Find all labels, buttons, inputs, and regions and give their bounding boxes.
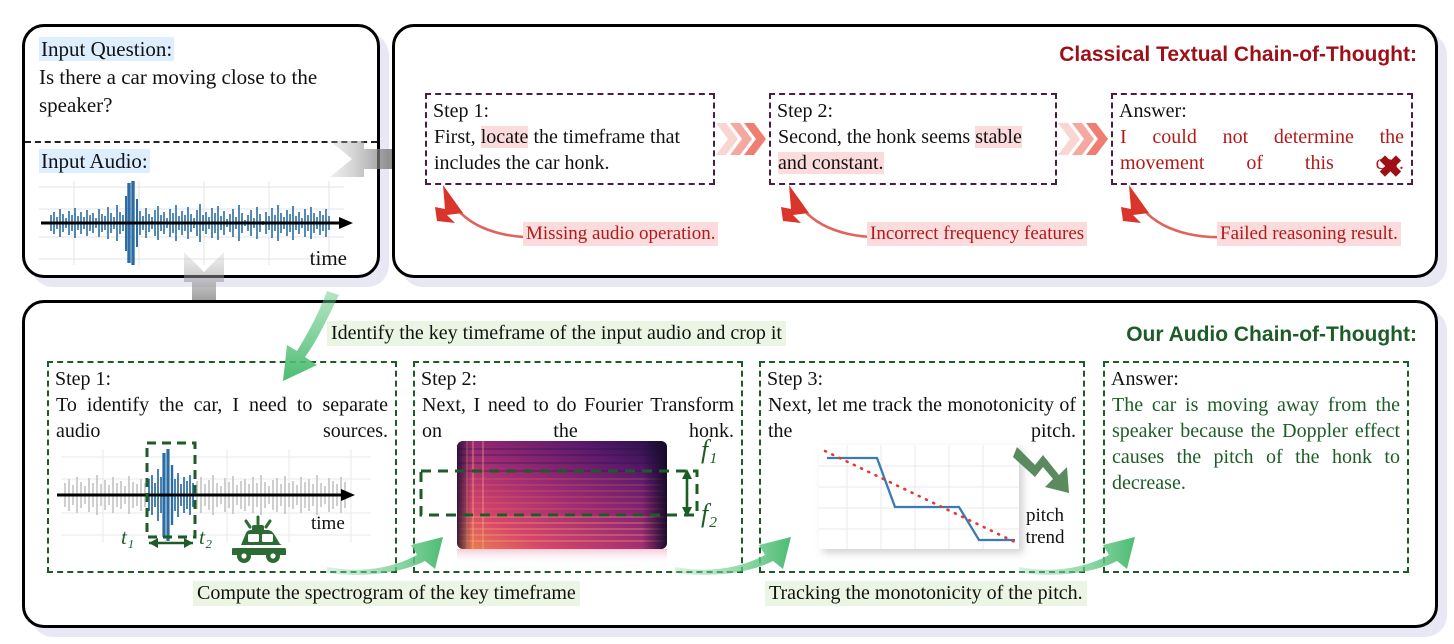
green-arrow-step2-to-step3-icon bbox=[673, 521, 793, 579]
car-icon bbox=[227, 515, 289, 565]
classical-step-2-title: Step 2: bbox=[777, 99, 1055, 123]
classical-step-1-body-highlight: locate bbox=[481, 126, 529, 148]
classical-step-1-body: First, locate the timeframe that include… bbox=[434, 124, 706, 176]
classical-answer-box: Answer: I could not determine the moveme… bbox=[1111, 93, 1413, 185]
pitch-trend-arrow-icon bbox=[1013, 443, 1075, 499]
annotation-3: Failed reasoning result. bbox=[1217, 222, 1401, 246]
classical-step-2-body: Second, the honk seems stable and consta… bbox=[778, 124, 1048, 176]
audio-step-2-title: Step 2: bbox=[421, 367, 741, 391]
spectrogram-figure: f₁ f₂ bbox=[457, 441, 697, 559]
banner-tracking-monotonicity: Tracking the monotonicity of the pitch. bbox=[765, 581, 1087, 606]
green-arrow-step1-to-step2-icon bbox=[325, 521, 445, 579]
audio-answer-body: The car is moving away from the speaker … bbox=[1112, 392, 1400, 496]
f1-label: f₁ bbox=[701, 435, 717, 465]
audio-step-2-body: Next, I need to do Fourier Transform on … bbox=[422, 392, 734, 444]
input-panel: Input Question: Is there a car moving cl… bbox=[22, 24, 380, 278]
time-axis-label: time bbox=[310, 246, 347, 271]
t1-label: t₁ bbox=[121, 525, 134, 550]
chevron-group-2-icon bbox=[1057, 121, 1111, 157]
banner-identify-timeframe: Identify the key timeframe of the input … bbox=[327, 321, 786, 346]
classical-step-2-body-pre: Second, the honk seems bbox=[778, 126, 975, 148]
wrong-answer-cross-icon: ✖ bbox=[1378, 150, 1403, 185]
input-question-text: Is there a car moving close to the speak… bbox=[39, 63, 357, 119]
classical-answer-body: I could not determine the movement of th… bbox=[1120, 124, 1404, 176]
input-question-label: Input Question: bbox=[39, 37, 174, 62]
audio-step-3-title: Step 3: bbox=[767, 367, 1083, 391]
classical-cot-heading: Classical Textual Chain-of-Thought: bbox=[1059, 43, 1417, 67]
classical-step-1-box: Step 1: First, locate the timeframe that… bbox=[425, 93, 715, 185]
pitch-chart bbox=[819, 445, 1027, 557]
annotation-2: Incorrect frequency features bbox=[867, 222, 1087, 246]
input-panel-divider bbox=[25, 141, 377, 143]
classical-step-2-box: Step 2: Second, the honk seems stable an… bbox=[769, 93, 1057, 185]
green-arrow-to-step1-icon bbox=[261, 291, 351, 391]
classical-step-1-body-pre: First, bbox=[434, 126, 481, 148]
audio-answer-title: Answer: bbox=[1111, 367, 1407, 391]
audio-cot-heading: Our Audio Chain-of-Thought: bbox=[1126, 323, 1417, 347]
classical-textual-cot-panel: Classical Textual Chain-of-Thought: Step… bbox=[392, 24, 1438, 278]
chevron-group-1-icon bbox=[715, 121, 769, 157]
audio-step-3-body: Next, let me track the monotonicity of t… bbox=[768, 392, 1076, 444]
green-arrow-step3-to-answer-icon bbox=[1017, 521, 1137, 579]
annotation-1: Missing audio operation. bbox=[523, 222, 718, 246]
our-audio-cot-panel: Our Audio Chain-of-Thought: Identify the… bbox=[22, 300, 1438, 628]
banner-compute-spectrogram: Compute the spectrogram of the key timef… bbox=[193, 581, 580, 606]
audio-answer-box: Answer: The car is moving away from the … bbox=[1103, 361, 1409, 573]
classical-step-1-title: Step 1: bbox=[433, 99, 713, 123]
audio-step-1-body: To identify the car, I need to separate … bbox=[56, 392, 388, 444]
input-audio-label: Input Audio: bbox=[39, 149, 150, 174]
t2-label: t₂ bbox=[199, 525, 212, 550]
classical-answer-title: Answer: bbox=[1119, 99, 1411, 123]
